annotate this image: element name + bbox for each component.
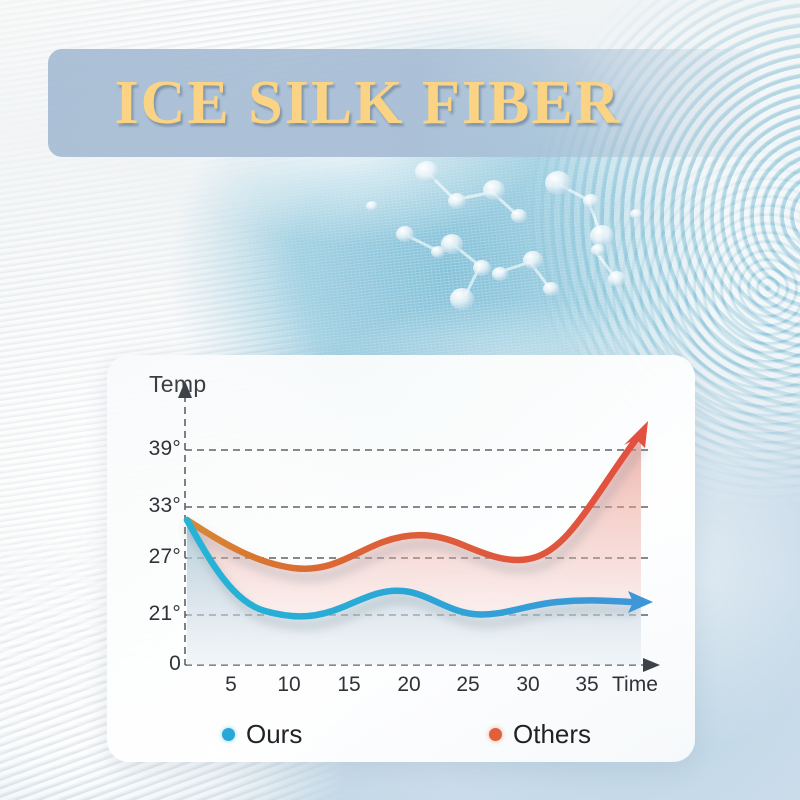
legend-dot-blue-icon	[222, 728, 235, 741]
x-axis-arrow-icon	[643, 658, 660, 672]
x-tick-15: 15	[337, 673, 360, 697]
legend-dot-red-icon	[489, 728, 502, 741]
product-banner-image: ICE SILK FIBER Temp	[0, 0, 800, 800]
legend-item-others: Others	[489, 719, 591, 750]
y-tick-0: 0	[169, 652, 181, 676]
legend-label-ours: Ours	[246, 719, 302, 750]
y-tick-21: 21°	[149, 602, 181, 626]
line-chart-plot	[107, 355, 695, 762]
legend-label-others: Others	[513, 719, 591, 750]
x-axis-label: Time	[612, 673, 658, 697]
legend-item-ours: Ours	[222, 719, 302, 750]
x-tick-5: 5	[225, 673, 237, 697]
x-tick-35: 35	[575, 673, 598, 697]
y-tick-27: 27°	[149, 545, 181, 569]
x-tick-10: 10	[277, 673, 300, 697]
title-banner: ICE SILK FIBER	[48, 49, 760, 157]
page-title: ICE SILK FIBER	[48, 49, 688, 157]
x-tick-30: 30	[516, 673, 539, 697]
x-tick-25: 25	[456, 673, 479, 697]
y-tick-33: 33°	[149, 494, 181, 518]
chart-legend: Ours Others	[107, 710, 695, 758]
y-axis-ticks: 39° 33° 27° 21° 0	[121, 355, 181, 762]
y-tick-39: 39°	[149, 437, 181, 461]
temperature-chart-card: Temp	[107, 355, 695, 762]
x-tick-20: 20	[397, 673, 420, 697]
